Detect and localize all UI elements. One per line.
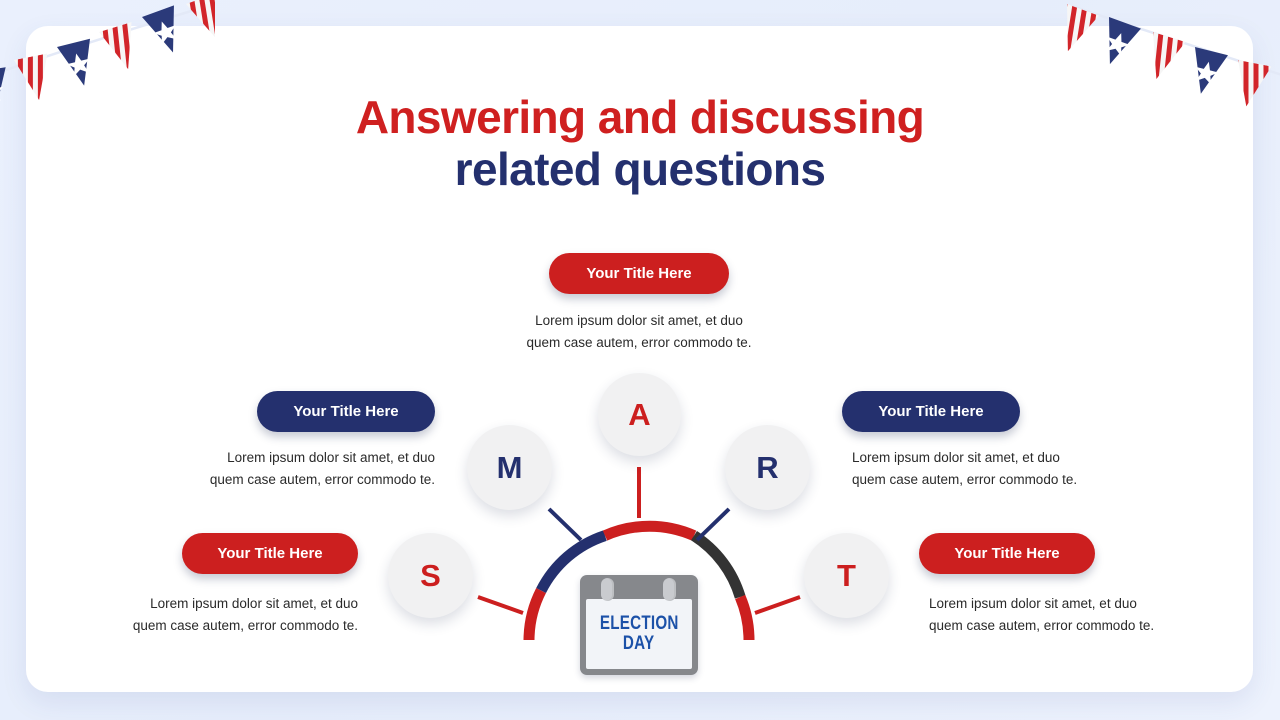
description-upper-right-line-2: quem case autem, error commodo te. bbox=[852, 469, 1252, 491]
description-lower-left: Lorem ipsum dolor sit amet, et duo quem … bbox=[0, 593, 358, 637]
arc-segment-charcoal bbox=[694, 536, 740, 597]
slide-background: Answering and discussing related questio… bbox=[0, 0, 1280, 720]
letter-circle-s[interactable]: S bbox=[388, 533, 473, 618]
description-top: Lorem ipsum dolor sit amet, et duo quem … bbox=[439, 310, 839, 354]
description-top-line-1: Lorem ipsum dolor sit amet, et duo bbox=[439, 310, 839, 332]
arc-segment-red-top bbox=[605, 526, 694, 535]
connector-line-lower-left bbox=[478, 597, 523, 613]
description-top-line-2: quem case autem, error commodo te. bbox=[439, 332, 839, 354]
letter-circle-r[interactable]: R bbox=[725, 425, 810, 510]
letter-circle-m[interactable]: M bbox=[467, 425, 552, 510]
bunting-right bbox=[1065, 0, 1280, 125]
description-upper-right: Lorem ipsum dolor sit amet, et duo quem … bbox=[852, 447, 1252, 491]
description-upper-left-line-2: quem case autem, error commodo te. bbox=[35, 469, 435, 491]
description-upper-left: Lorem ipsum dolor sit amet, et duo quem … bbox=[35, 447, 435, 491]
description-lower-left-line-1: Lorem ipsum dolor sit amet, et duo bbox=[0, 593, 358, 615]
connector-line-upper-left bbox=[549, 509, 581, 540]
pill-lower-right-label: Your Title Here bbox=[954, 545, 1059, 562]
letter-circle-a-label: A bbox=[628, 397, 650, 433]
letter-circle-t[interactable]: T bbox=[804, 533, 889, 618]
election-day-calendar-icon: ELECTION DAY bbox=[580, 575, 698, 675]
calendar-line-1: ELECTION bbox=[600, 614, 679, 634]
description-upper-right-line-1: Lorem ipsum dolor sit amet, et duo bbox=[852, 447, 1252, 469]
pill-lower-right[interactable]: Your Title Here bbox=[919, 533, 1095, 574]
pill-lower-left[interactable]: Your Title Here bbox=[182, 533, 358, 574]
letter-circle-s-label: S bbox=[420, 558, 441, 594]
letter-circle-r-label: R bbox=[756, 450, 778, 486]
arc-segment-red-right bbox=[740, 597, 749, 640]
description-lower-left-line-2: quem case autem, error commodo te. bbox=[0, 615, 358, 637]
letter-circle-m-label: M bbox=[497, 450, 523, 486]
pill-upper-left-label: Your Title Here bbox=[293, 403, 398, 420]
calendar-ring-right bbox=[663, 578, 676, 601]
letter-circle-t-label: T bbox=[837, 558, 856, 594]
calendar-line-2: DAY bbox=[623, 634, 654, 654]
description-upper-left-line-1: Lorem ipsum dolor sit amet, et duo bbox=[35, 447, 435, 469]
connector-line-upper-right bbox=[697, 509, 729, 540]
description-lower-right: Lorem ipsum dolor sit amet, et duo quem … bbox=[929, 593, 1280, 637]
bunting-left bbox=[0, 0, 215, 125]
pill-lower-left-label: Your Title Here bbox=[217, 545, 322, 562]
calendar-ring-left bbox=[601, 578, 614, 601]
calendar-body: ELECTION DAY bbox=[586, 599, 692, 669]
pill-upper-right[interactable]: Your Title Here bbox=[842, 391, 1020, 432]
pill-top[interactable]: Your Title Here bbox=[549, 253, 729, 294]
pill-top-label: Your Title Here bbox=[586, 265, 691, 282]
connector-line-lower-right bbox=[755, 597, 800, 613]
arc-segment-red-left bbox=[529, 591, 541, 641]
letter-circle-a[interactable]: A bbox=[598, 373, 681, 456]
description-lower-right-line-1: Lorem ipsum dolor sit amet, et duo bbox=[929, 593, 1280, 615]
description-lower-right-line-2: quem case autem, error commodo te. bbox=[929, 615, 1280, 637]
pill-upper-left[interactable]: Your Title Here bbox=[257, 391, 435, 432]
pill-upper-right-label: Your Title Here bbox=[878, 403, 983, 420]
